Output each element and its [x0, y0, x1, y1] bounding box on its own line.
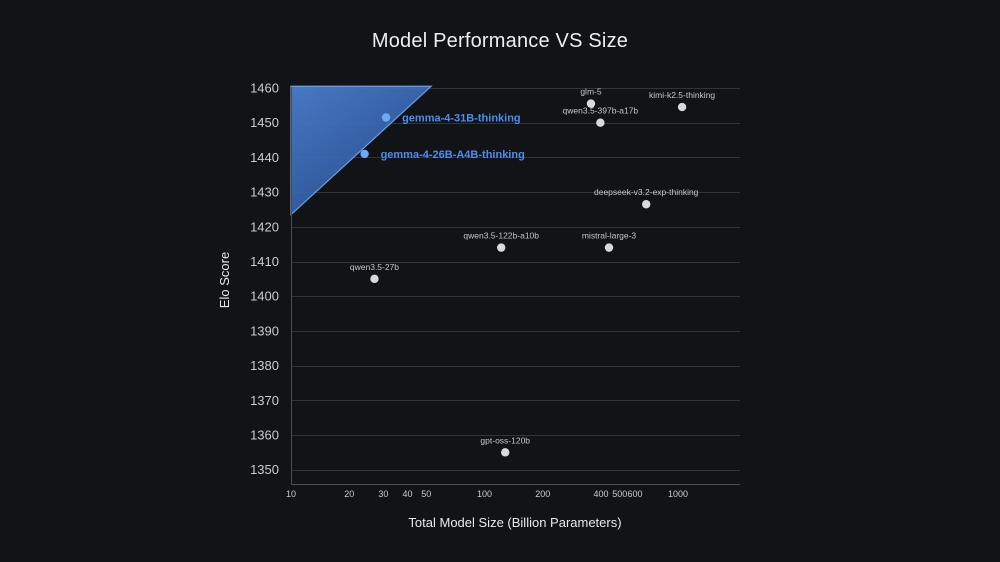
y-axis-title: Elo Score	[217, 252, 232, 308]
scatter-plot: 1460145014401430142014101400139013801370…	[0, 0, 1000, 562]
y-tick-label: 1400	[250, 289, 279, 304]
x-tick-label: 10	[286, 489, 296, 499]
y-tick-label: 1350	[250, 462, 279, 477]
data-point[interactable]: mistral-large-3	[582, 231, 637, 252]
x-tick-label: 50	[421, 489, 431, 499]
data-point-label: mistral-large-3	[582, 231, 637, 241]
data-point[interactable]: gpt-oss-120b	[480, 435, 530, 456]
data-point[interactable]: gemma-4-26B-A4B-thinking	[360, 149, 524, 161]
data-point-label: qwen3.5-122b-a10b	[463, 231, 539, 241]
chart-page: Model Performance VS Size 14601450144014…	[0, 0, 1000, 562]
data-point-marker[interactable]	[497, 243, 505, 251]
y-tick-label: 1430	[250, 185, 279, 200]
x-tick-label: 600	[628, 489, 643, 499]
data-point-label: qwen3.5-397b-a17b	[563, 106, 639, 116]
y-tick-label: 1390	[250, 323, 279, 338]
x-tick-label: 20	[344, 489, 354, 499]
data-point-marker[interactable]	[605, 243, 613, 251]
data-point-label: gemma-4-31B-thinking	[402, 112, 521, 124]
x-axis-ticks: 10203040501002004005006001000	[286, 489, 688, 499]
data-points: gemma-4-31B-thinkinggemma-4-26B-A4B-thin…	[350, 87, 716, 457]
x-tick-label: 400	[593, 489, 608, 499]
data-point[interactable]: deepseek-v3.2-exp-thinking	[594, 187, 699, 208]
data-point[interactable]: glm-5	[580, 87, 602, 108]
data-point-label: kimi-k2.5-thinking	[649, 90, 715, 100]
y-tick-label: 1380	[250, 358, 279, 373]
data-point-marker[interactable]	[642, 200, 650, 208]
data-point-label: deepseek-v3.2-exp-thinking	[594, 187, 699, 197]
y-tick-label: 1370	[250, 393, 279, 408]
data-point-marker[interactable]	[678, 103, 686, 111]
data-point-label: glm-5	[580, 87, 602, 97]
x-tick-label: 200	[535, 489, 550, 499]
data-point[interactable]: qwen3.5-27b	[350, 262, 399, 283]
x-tick-label: 1000	[668, 489, 688, 499]
data-point-marker[interactable]	[596, 119, 604, 127]
data-point-marker[interactable]	[501, 448, 509, 456]
data-point-label: gpt-oss-120b	[480, 435, 530, 445]
data-point-marker[interactable]	[587, 99, 595, 107]
data-point[interactable]: qwen3.5-122b-a10b	[463, 231, 539, 252]
y-axis-ticks: 1460145014401430142014101400139013801370…	[250, 81, 279, 478]
y-tick-label: 1450	[250, 115, 279, 130]
x-tick-label: 40	[402, 489, 412, 499]
x-tick-label: 30	[378, 489, 388, 499]
y-tick-label: 1420	[250, 219, 279, 234]
y-tick-label: 1460	[250, 81, 279, 96]
x-axis-title: Total Model Size (Billion Parameters)	[408, 515, 621, 530]
data-point-marker[interactable]	[360, 150, 368, 158]
data-point[interactable]: gemma-4-31B-thinking	[382, 112, 521, 124]
x-tick-label: 100	[477, 489, 492, 499]
x-tick-label: 500	[612, 489, 627, 499]
data-point-label: gemma-4-26B-A4B-thinking	[381, 149, 525, 161]
data-point-marker[interactable]	[370, 275, 378, 283]
y-tick-label: 1440	[250, 150, 279, 165]
data-point[interactable]: kimi-k2.5-thinking	[649, 90, 715, 111]
y-tick-label: 1410	[250, 254, 279, 269]
data-point-label: qwen3.5-27b	[350, 262, 399, 272]
data-point-marker[interactable]	[382, 113, 390, 121]
y-tick-label: 1360	[250, 428, 279, 443]
